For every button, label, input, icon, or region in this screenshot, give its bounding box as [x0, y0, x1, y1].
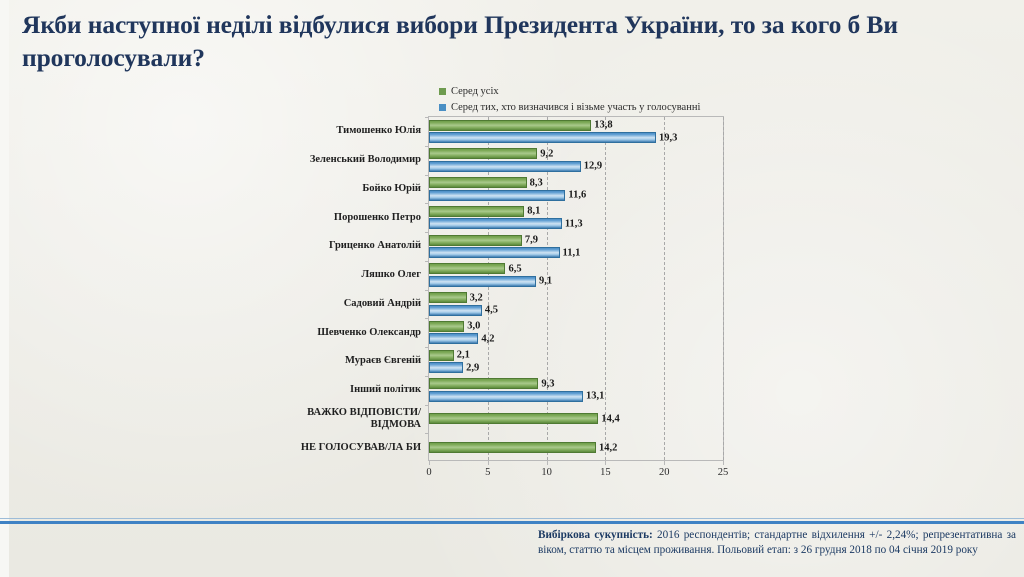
chart-panel: Серед усіх Серед тих, хто визначився і в…	[279, 84, 747, 501]
bar-value-label: 9,1	[539, 276, 552, 287]
bar-fill: 6,5	[429, 263, 505, 274]
y-axis-tick	[425, 203, 429, 204]
bar-green: 14,4	[429, 413, 598, 424]
bar-value-label: 11,3	[565, 218, 583, 229]
bar-green: 14,2	[429, 442, 596, 453]
y-axis-tick	[425, 261, 429, 262]
y-axis-tick	[425, 232, 429, 233]
bar-fill: 13,8	[429, 120, 591, 131]
x-axis-tick	[429, 461, 430, 465]
bar-fill: 3,0	[429, 321, 464, 332]
bar-value-label: 7,9	[525, 235, 538, 246]
category-label: ВАЖКО ВІДПОВІСТИ/ВІДМОВА	[271, 407, 421, 431]
bar-value-label: 13,8	[594, 120, 612, 131]
bar-fill: 8,1	[429, 206, 524, 217]
bar-fill: 3,2	[429, 292, 467, 303]
bar-value-label: 13,1	[586, 391, 604, 402]
x-axis-tick-label: 15	[600, 467, 611, 478]
x-axis-tick-label: 5	[485, 467, 490, 478]
category-label: Садовий Андрій	[271, 298, 421, 310]
bar-fill: 19,3	[429, 132, 656, 143]
chart-row: Тимошенко Юлія13,819,3	[429, 117, 723, 146]
bar-fill: 9,1	[429, 276, 536, 287]
bar-fill: 4,5	[429, 305, 482, 316]
bar-value-label: 11,6	[568, 190, 586, 201]
x-axis-tick-label: 25	[718, 467, 729, 478]
chart-row: Гриценко Анатолій7,911,1	[429, 232, 723, 261]
bar-blue: 4,5	[429, 305, 482, 316]
bar-green: 9,3	[429, 378, 538, 389]
bar-fill: 11,6	[429, 190, 565, 201]
bar-value-label: 19,3	[659, 132, 677, 143]
left-margin-strip	[0, 0, 9, 577]
gridline-25	[723, 117, 724, 460]
bar-fill: 11,3	[429, 218, 562, 229]
bar-blue: 11,1	[429, 247, 560, 258]
bar-value-label: 3,0	[467, 321, 480, 332]
chart-row: ВАЖКО ВІДПОВІСТИ/ВІДМОВА14,4	[429, 405, 723, 434]
bar-value-label: 12,9	[584, 161, 602, 172]
bar-value-label: 8,1	[527, 206, 540, 217]
bar-value-label: 4,2	[481, 333, 494, 344]
footer-divider	[0, 521, 1024, 524]
y-axis-tick	[425, 405, 429, 406]
bar-fill: 14,2	[429, 442, 596, 453]
x-axis-tick-label: 20	[659, 467, 670, 478]
footer-note-label: Вибіркова сукупність:	[538, 529, 653, 541]
y-axis-tick	[425, 376, 429, 377]
bar-blue: 4,2	[429, 333, 478, 344]
footer-note: Вибіркова сукупність: 2016 респондентів;…	[538, 528, 1016, 557]
bar-value-label: 3,2	[470, 292, 483, 303]
chart-row: Шевченко Олександр3,04,2	[429, 318, 723, 347]
bar-green: 7,9	[429, 235, 522, 246]
y-axis-tick	[425, 290, 429, 291]
chart-row: Інший політик9,313,1	[429, 376, 723, 405]
legend-label-1: Серед тих, хто визначився і візьме участ…	[451, 102, 700, 113]
category-label: Тимошенко Юлія	[271, 125, 421, 137]
chart-row: Зеленський Володимир9,212,9	[429, 146, 723, 175]
y-axis-tick	[425, 175, 429, 176]
y-axis-tick	[425, 433, 429, 434]
bar-blue: 11,3	[429, 218, 562, 229]
bar-fill: 13,1	[429, 391, 583, 402]
bar-value-label: 11,1	[563, 247, 581, 258]
chart-legend: Серед усіх Серед тих, хто визначився і в…	[439, 84, 749, 116]
bar-value-label: 2,1	[457, 350, 470, 361]
bar-blue: 12,9	[429, 161, 581, 172]
bar-fill: 11,1	[429, 247, 560, 258]
bar-value-label: 8,3	[530, 177, 543, 188]
category-label: Мураєв Євгеній	[271, 355, 421, 367]
bar-blue: 9,1	[429, 276, 536, 287]
x-axis-tick	[605, 461, 606, 465]
bar-value-label: 14,2	[599, 442, 617, 453]
bar-value-label: 6,5	[508, 263, 521, 274]
category-label: Ляшко Олег	[271, 269, 421, 281]
bar-green: 3,2	[429, 292, 467, 303]
chart-row: Садовий Андрій3,24,5	[429, 290, 723, 319]
category-label: НЕ ГОЛОСУВАВ/ЛА БИ	[271, 442, 421, 454]
category-label: Інший політик	[271, 384, 421, 396]
bar-green: 2,1	[429, 350, 454, 361]
y-axis-tick	[425, 117, 429, 118]
bar-green: 8,3	[429, 177, 527, 188]
x-axis-tick	[488, 461, 489, 465]
bar-fill: 7,9	[429, 235, 522, 246]
bar-green: 3,0	[429, 321, 464, 332]
y-axis-tick	[425, 146, 429, 147]
x-axis-tick	[723, 461, 724, 465]
x-axis-tick	[664, 461, 665, 465]
chart-row: Порошенко Петро8,111,3	[429, 203, 723, 232]
bar-fill: 8,3	[429, 177, 527, 188]
x-axis-tick	[547, 461, 548, 465]
legend-swatch-green	[439, 88, 446, 95]
bar-blue: 13,1	[429, 391, 583, 402]
x-axis: 0510152025	[428, 461, 724, 485]
bar-green: 8,1	[429, 206, 524, 217]
bar-value-label: 4,5	[485, 305, 498, 316]
bar-value-label: 9,2	[540, 148, 553, 159]
bar-blue: 11,6	[429, 190, 565, 201]
bar-value-label: 14,4	[601, 413, 619, 424]
plot-area: Тимошенко Юлія13,819,3Зеленський Володим…	[428, 116, 724, 461]
legend-label-0: Серед усіх	[451, 86, 499, 97]
bar-value-label: 9,3	[541, 378, 554, 389]
chart-rows: Тимошенко Юлія13,819,3Зеленський Володим…	[429, 117, 723, 460]
bar-fill: 9,2	[429, 148, 537, 159]
chart-row: Мураєв Євгеній2,12,9	[429, 347, 723, 376]
bar-fill: 9,3	[429, 378, 538, 389]
bar-green: 6,5	[429, 263, 505, 274]
legend-item-1: Серед тих, хто визначився і візьме участ…	[439, 100, 749, 115]
bar-blue: 2,9	[429, 362, 463, 373]
chart-row: Бойко Юрій8,311,6	[429, 175, 723, 204]
bar-green: 13,8	[429, 120, 591, 131]
bar-green: 9,2	[429, 148, 537, 159]
category-label: Шевченко Олександр	[271, 327, 421, 339]
bar-blue: 19,3	[429, 132, 656, 143]
page-title: Якби наступної неділі відбулися вибори П…	[22, 8, 997, 74]
bar-fill: 12,9	[429, 161, 581, 172]
category-label: Бойко Юрій	[271, 183, 421, 195]
bar-fill: 4,2	[429, 333, 478, 344]
bar-fill: 2,9	[429, 362, 463, 373]
category-label: Порошенко Петро	[271, 212, 421, 224]
bar-fill: 14,4	[429, 413, 598, 424]
category-label: Зеленський Володимир	[271, 154, 421, 166]
y-axis-tick	[425, 318, 429, 319]
x-axis-tick-label: 10	[541, 467, 552, 478]
y-axis-tick	[425, 347, 429, 348]
chart-row: Ляшко Олег6,59,1	[429, 261, 723, 290]
footer-divider-thin	[0, 518, 1024, 519]
category-label: Гриценко Анатолій	[271, 240, 421, 252]
legend-item-0: Серед усіх	[439, 84, 749, 99]
chart-row: НЕ ГОЛОСУВАВ/ЛА БИ14,2	[429, 433, 723, 462]
bar-value-label: 2,9	[466, 362, 479, 373]
legend-swatch-blue	[439, 104, 446, 111]
bar-fill: 2,1	[429, 350, 454, 361]
x-axis-tick-label: 0	[426, 467, 431, 478]
